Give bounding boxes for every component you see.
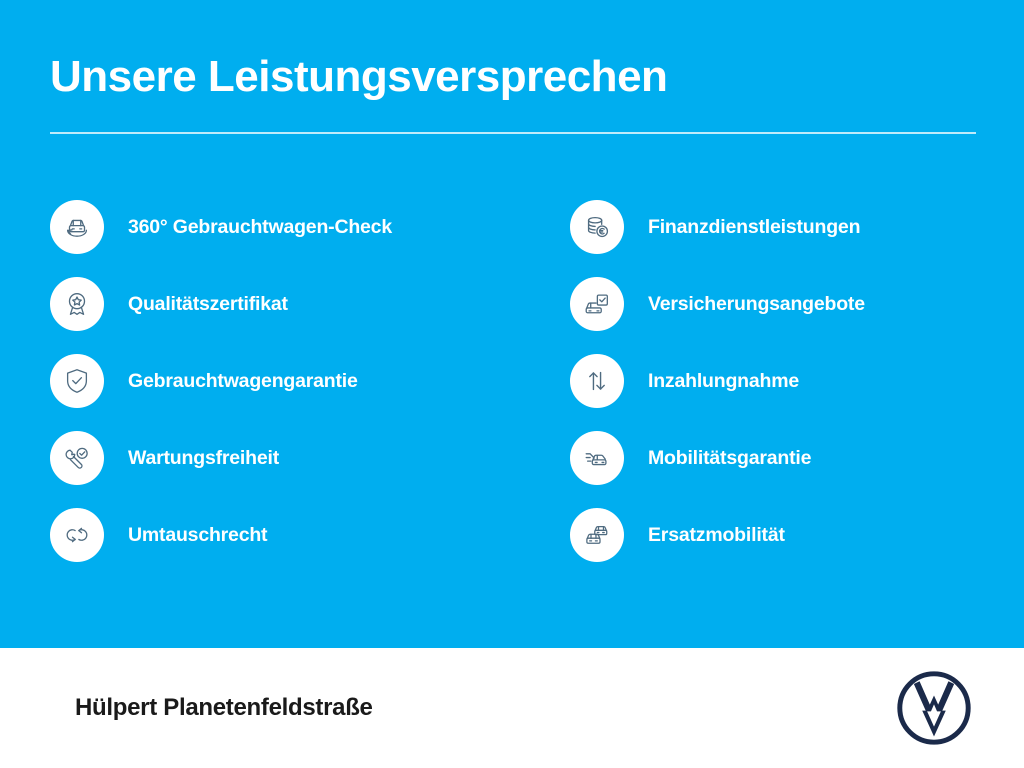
shield-check-icon <box>50 354 104 408</box>
hero-panel: Unsere Leistungsversprechen 36 <box>0 0 1024 648</box>
feature-label: Ersatzmobilität <box>648 524 785 547</box>
feature-item-umtauschrecht: Umtauschrecht <box>50 508 515 562</box>
feature-label: Mobilitätsgarantie <box>648 447 811 470</box>
tow-car-icon <box>570 431 624 485</box>
up-down-arrows-icon <box>570 354 624 408</box>
feature-label: Qualitätszertifikat <box>128 293 288 316</box>
car-document-check-icon <box>570 277 624 331</box>
feature-label: Umtauschrecht <box>128 524 267 547</box>
feature-item-gebrauchtwagengarantie: Gebrauchtwagengarantie <box>50 354 515 408</box>
feature-item-gebrauchtwagen-check: 360° Gebrauchtwagen-Check <box>50 200 515 254</box>
promise-graphic: Unsere Leistungsversprechen 36 <box>0 0 1024 768</box>
feature-item-qualitaetszertifikat: Qualitätszertifikat <box>50 277 515 331</box>
page-title: Unsere Leistungsversprechen <box>50 52 667 102</box>
feature-item-versicherungsangebote: Versicherungsangebote <box>570 277 980 331</box>
feature-label: Gebrauchtwagengarantie <box>128 370 358 393</box>
features-grid: 360° Gebrauchtwagen-Check Qualitätszerti… <box>50 200 980 562</box>
volkswagen-logo <box>896 670 972 746</box>
feature-label: Finanzdienstleistungen <box>648 216 860 239</box>
feature-item-mobilitaetsgarantie: Mobilitätsgarantie <box>570 431 980 485</box>
features-left-column: 360° Gebrauchtwagen-Check Qualitätszerti… <box>50 200 515 562</box>
features-right-column: Finanzdienstleistungen Versicherungsange… <box>515 200 980 562</box>
two-cars-icon <box>570 508 624 562</box>
dealer-name: Hülpert Planetenfeldstraße <box>75 694 373 722</box>
title-divider <box>50 132 976 134</box>
feature-label: Inzahlungnahme <box>648 370 799 393</box>
feature-label: Versicherungsangebote <box>648 293 865 316</box>
feature-item-finanzdienstleistungen: Finanzdienstleistungen <box>570 200 980 254</box>
wrench-check-icon <box>50 431 104 485</box>
feature-label: Wartungsfreiheit <box>128 447 279 470</box>
feature-item-wartungsfreiheit: Wartungsfreiheit <box>50 431 515 485</box>
feature-label: 360° Gebrauchtwagen-Check <box>128 216 392 239</box>
footer-bar: Hülpert Planetenfeldstraße <box>0 648 1024 768</box>
exchange-arrows-icon <box>50 508 104 562</box>
car-360-check-icon <box>50 200 104 254</box>
award-rosette-icon <box>50 277 104 331</box>
feature-item-inzahlungnahme: Inzahlungnahme <box>570 354 980 408</box>
feature-item-ersatzmobilitaet: Ersatzmobilität <box>570 508 980 562</box>
coins-euro-icon <box>570 200 624 254</box>
